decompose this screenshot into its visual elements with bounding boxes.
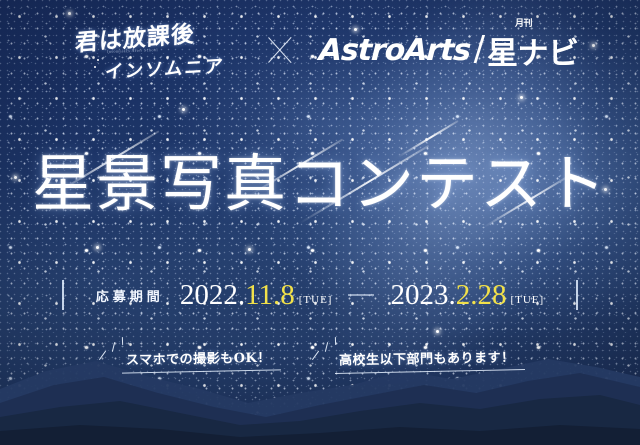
period-end-date: 2023 . 2.28 [TUE] [390, 279, 544, 312]
highlight-notes-row: スマホでの撮影もOK！ 高校生以下部門もあります！ [0, 344, 640, 367]
end-day-of-week: [TUE] [510, 294, 544, 306]
band-rule-right [576, 280, 578, 310]
astroarts-wordmark: AstroArts [319, 33, 472, 68]
start-year: 2022 [180, 279, 238, 312]
emphasis-tick-icon [324, 342, 328, 352]
mountain-silhouette [0, 355, 640, 445]
emphasis-tick-icon [112, 342, 116, 352]
note-text: 高校生以下部門もあります！ [338, 346, 514, 368]
start-day-of-week: [TUE] [299, 294, 333, 306]
note-highschool-division: 高校生以下部門もあります！ [329, 344, 525, 367]
end-month-day: 2.28 [456, 279, 507, 312]
note-text: スマホでの撮影もOK！ [126, 347, 271, 369]
header-logo-row: 君は放課後 Insomniacs After School インソムニア Ast… [0, 14, 640, 86]
hoshinavi-text: 星ナビ [487, 28, 579, 73]
page-title: 星景写真コンテスト [0, 136, 640, 232]
period-start-date: 2022 . 11.8 [TUE] [180, 279, 333, 312]
date-range-separator [348, 294, 374, 295]
anime-logo-romaji: Insomniacs After School [107, 47, 158, 54]
emphasis-tick-icon [312, 351, 320, 361]
starscape-contest-poster: 君は放課後 Insomniacs After School インソムニア Ast… [0, 0, 640, 445]
anime-logo-line2: インソムニア [104, 52, 226, 84]
logo-accent-dot [97, 59, 99, 61]
cross-x-icon [263, 33, 297, 67]
application-period-band: 応募期間 2022 . 11.8 [TUE] 2023 . 2.28 [TUE] [62, 272, 578, 318]
start-month-day: 11.8 [245, 279, 295, 312]
start-dot: . [238, 279, 245, 312]
end-dot: . [448, 279, 455, 312]
logo-slash: / [472, 29, 486, 69]
logo-accent-dot [94, 66, 96, 68]
period-label: 応募期間 [96, 286, 164, 305]
main-title-block: 星景写真コンテスト [0, 136, 640, 236]
hoshinavi-wordmark: 星ナビ 月刊 [487, 28, 579, 73]
anime-title-logo: 君は放課後 Insomniacs After School インソムニア [61, 15, 241, 85]
astroarts-hoshinavi-logo: AstroArts / 星ナビ 月刊 [319, 28, 578, 72]
note-smartphone-ok: スマホでの撮影もOK！ [116, 344, 281, 367]
emphasis-tick-icon [99, 351, 107, 361]
gekkan-ruby-label: 月刊 [515, 20, 532, 29]
end-year: 2023 [390, 279, 448, 312]
emphasis-tick-icon [334, 337, 336, 345]
